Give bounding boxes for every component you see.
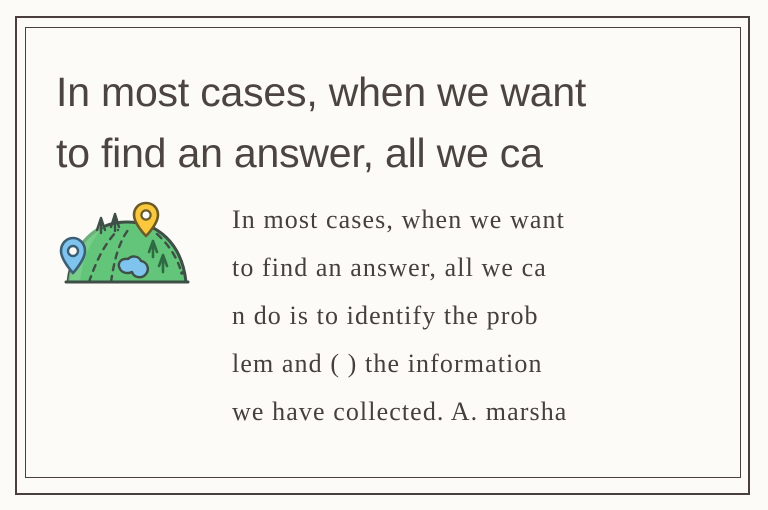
body-paragraph: In most cases, when we want to find an a…: [232, 196, 716, 436]
page-title: In most cases, when we want to find an a…: [56, 62, 696, 184]
slide-content: In most cases, when we want to find an a…: [0, 0, 768, 510]
body-block: In most cases, when we want to find an a…: [56, 196, 716, 436]
slide-canvas: In most cases, when we want to find an a…: [0, 0, 768, 510]
hill-map-with-location-pins-icon: [56, 200, 198, 290]
